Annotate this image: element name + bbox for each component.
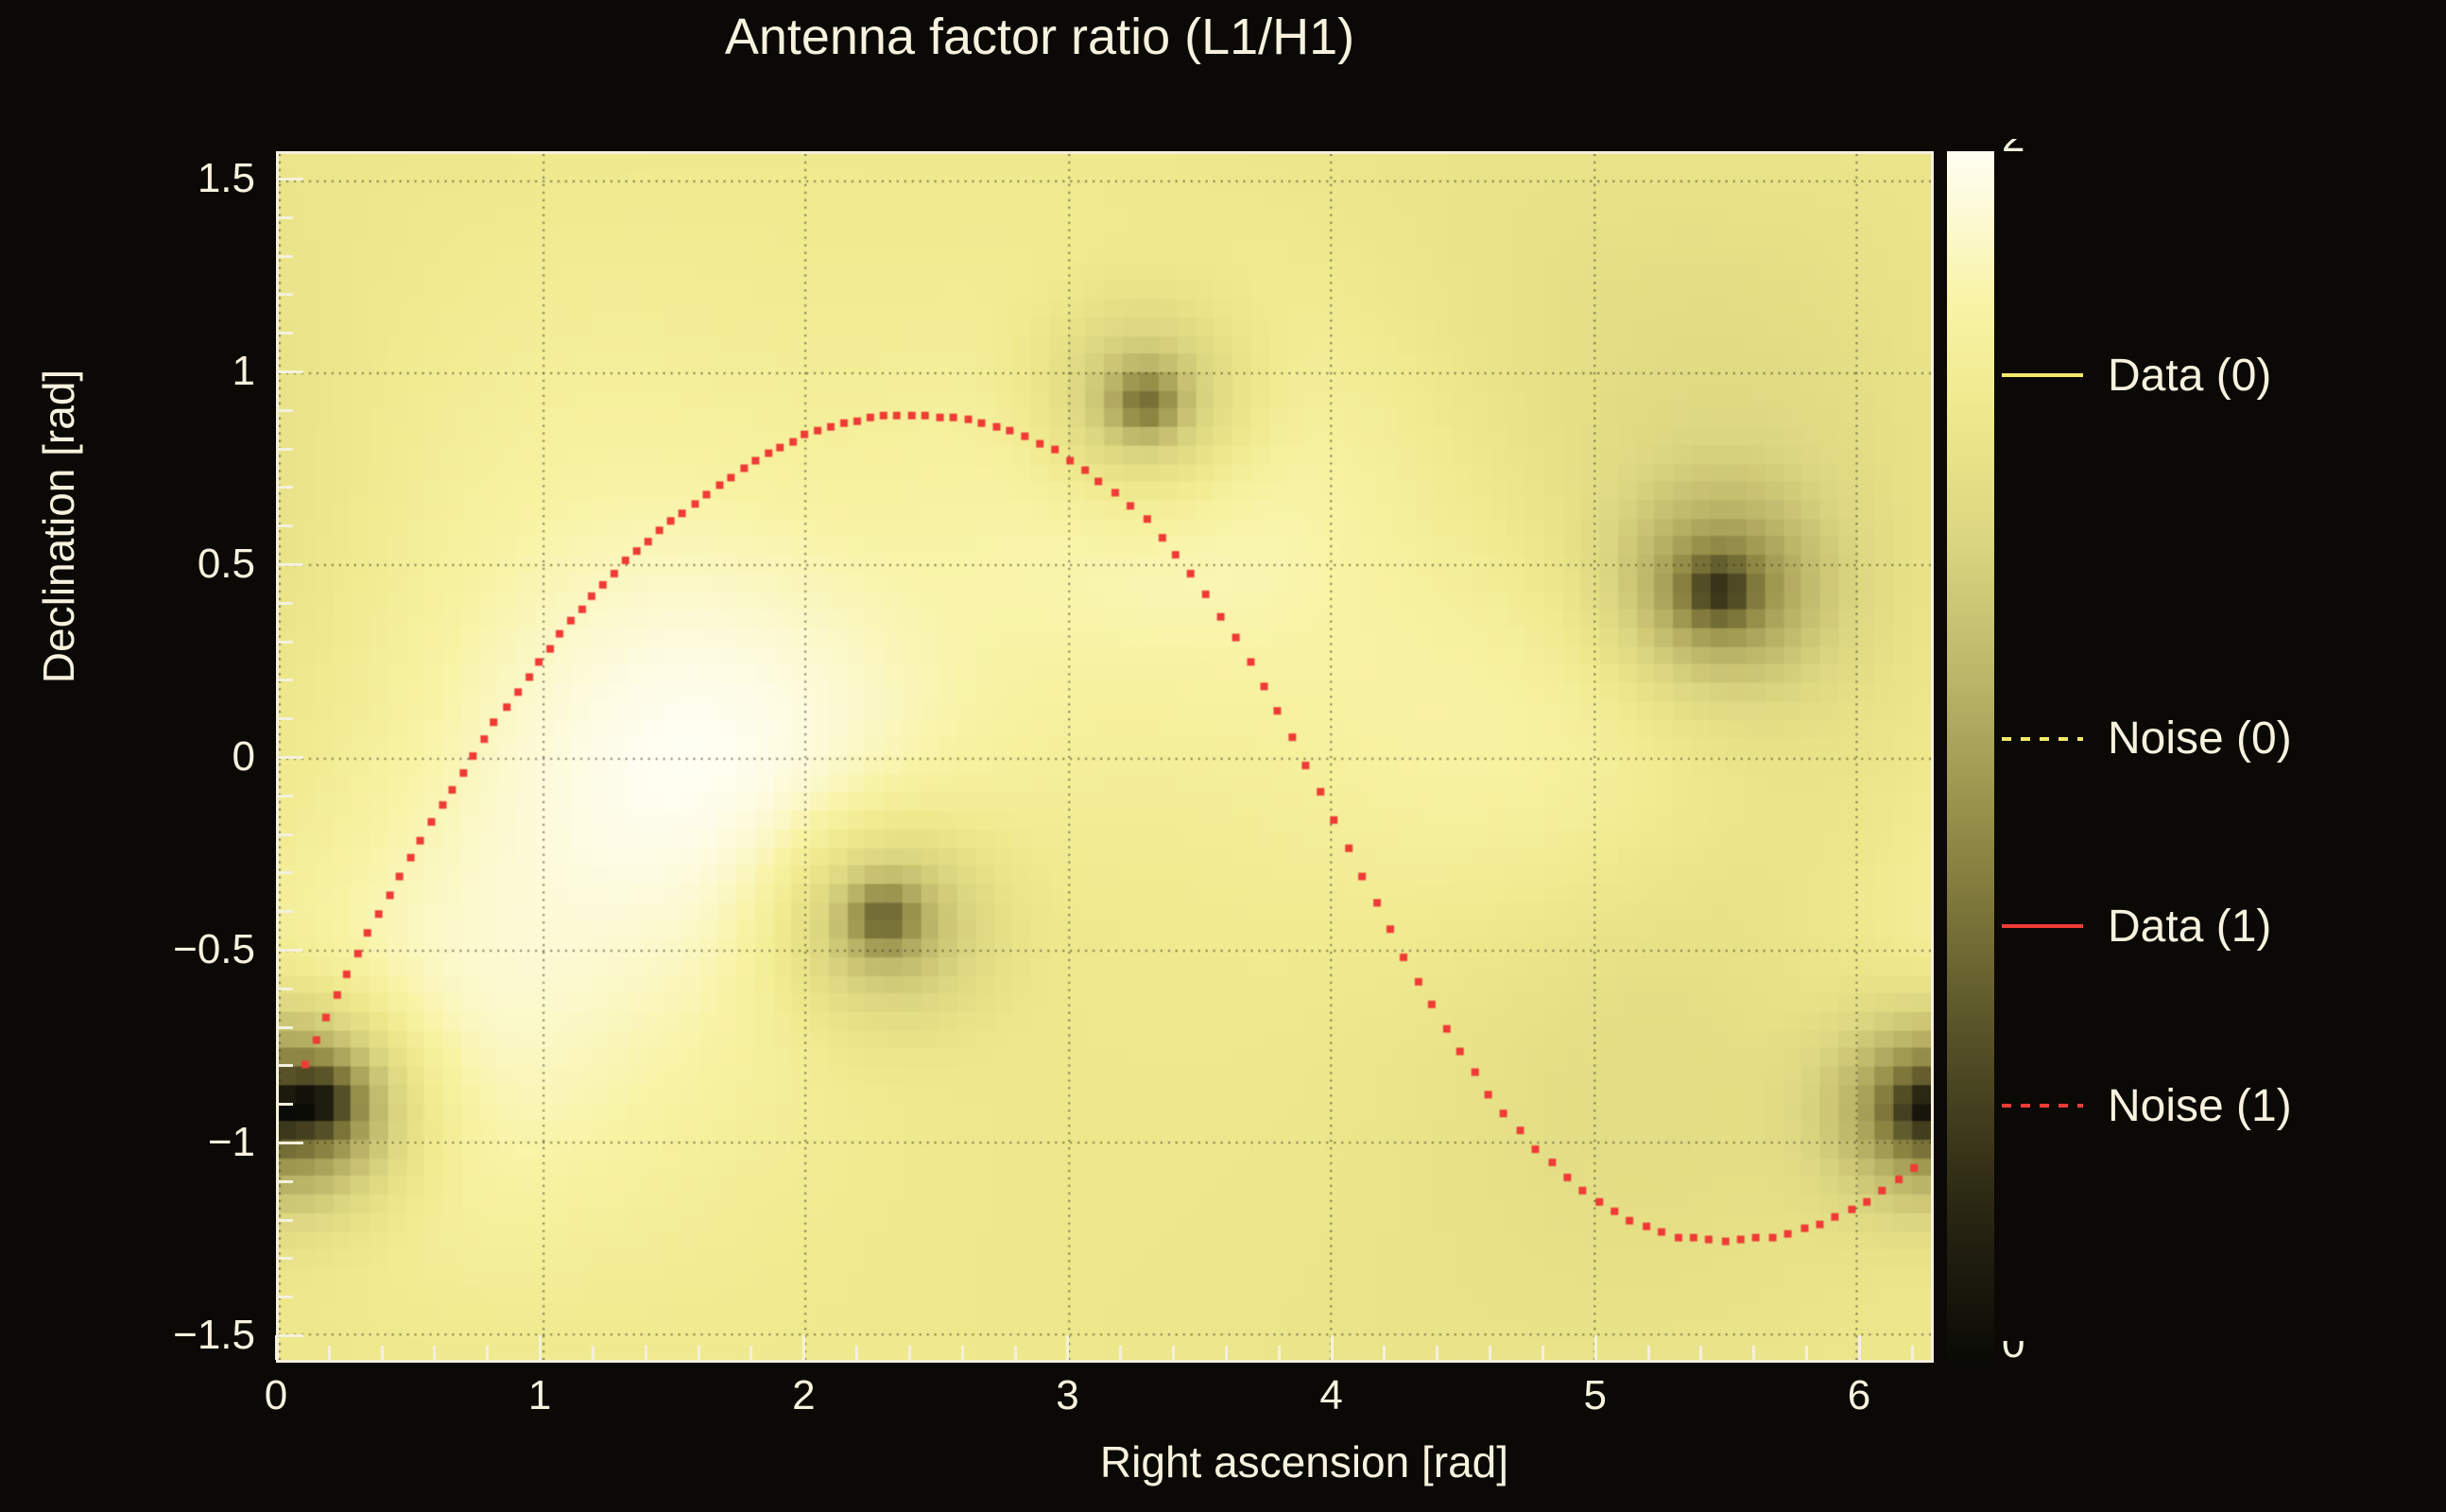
y-axis-tick — [279, 795, 293, 798]
x-axis-tick-labels: 0123456 — [276, 1372, 1934, 1429]
plot-root: Antenna factor ratio (L1/H1) 1.510.50−0.… — [0, 0, 2446, 1512]
x-axis-tick — [698, 1346, 700, 1360]
y-tick-label: −1 — [208, 1119, 255, 1166]
x-axis-tick — [1172, 1346, 1175, 1360]
y-axis-tick — [279, 717, 293, 720]
page-title: Antenna factor ratio (L1/H1) — [0, 8, 2079, 66]
x-axis-tick — [381, 1346, 384, 1360]
y-axis-tick — [279, 524, 293, 527]
x-tick-label: 2 — [792, 1372, 815, 1419]
legend-label: Data (1) — [2108, 901, 2271, 953]
y-axis-tick — [279, 679, 293, 681]
legend-entry[interactable]: Data (0) — [2002, 342, 2437, 408]
x-axis-tick — [1383, 1346, 1386, 1360]
colorbar-gradient — [1947, 151, 1994, 1363]
x-axis-tick — [908, 1346, 911, 1360]
y-axis-tick — [279, 486, 293, 489]
y-axis-tick — [279, 255, 293, 258]
x-axis-tick — [486, 1346, 489, 1360]
y-tick-label: 0.5 — [198, 541, 255, 588]
x-axis-tick — [433, 1346, 436, 1360]
y-axis-tick — [279, 332, 293, 335]
legend-label: Data (0) — [2108, 350, 2271, 402]
x-axis-tick — [328, 1346, 331, 1360]
x-axis-tick — [1858, 1335, 1861, 1360]
y-axis-tick — [279, 833, 293, 836]
y-axis-tick — [279, 1296, 293, 1298]
y-tick-label: 1.5 — [198, 155, 255, 202]
x-axis-tick — [1805, 1346, 1808, 1360]
y-axis-tick — [279, 1334, 303, 1337]
y-axis-tick — [279, 178, 303, 180]
x-tick-label: 0 — [265, 1372, 287, 1419]
y-axis-tick — [279, 910, 293, 913]
x-tick-label: 6 — [1848, 1372, 1870, 1419]
y-axis-tick — [279, 1142, 303, 1144]
x-axis-tick — [1489, 1346, 1491, 1360]
y-tick-label: 1 — [233, 348, 255, 395]
y-axis-tick — [279, 1064, 293, 1067]
y-axis-tick — [279, 756, 303, 759]
y-axis-tick — [279, 409, 293, 412]
y-tick-label: 0 — [233, 733, 255, 781]
y-axis-tick — [279, 293, 293, 296]
x-axis-tick — [1542, 1346, 1544, 1360]
y-axis-tick-labels: 1.510.50−0.5−1−1.5 — [57, 151, 255, 1363]
x-tick-label: 4 — [1319, 1372, 1342, 1419]
heatmap-canvas — [279, 154, 1931, 1360]
heatmap-plot-area[interactable] — [276, 151, 1934, 1363]
x-axis-tick — [961, 1346, 964, 1360]
legend-entry[interactable]: Data (1) — [2002, 893, 2437, 959]
x-axis-tick — [1331, 1335, 1334, 1360]
y-axis-tick — [279, 1103, 293, 1106]
legend-label: Noise (1) — [2108, 1080, 2292, 1132]
colorbar[interactable] — [1947, 151, 1994, 1363]
y-axis-tick — [279, 1180, 293, 1183]
y-axis-tick — [279, 871, 293, 874]
x-axis-tick — [1225, 1346, 1228, 1360]
x-axis-tick — [855, 1346, 858, 1360]
x-axis-tick — [1752, 1346, 1755, 1360]
x-tick-label: 1 — [528, 1372, 551, 1419]
x-axis-tick — [1278, 1346, 1281, 1360]
x-axis-tick — [592, 1346, 594, 1360]
x-axis-tick — [1699, 1346, 1702, 1360]
y-tick-label: −0.5 — [173, 926, 255, 973]
legend-label: Noise (0) — [2108, 713, 2292, 765]
y-axis-tick — [279, 563, 303, 566]
y-axis-tick — [279, 641, 293, 644]
y-axis-tick — [279, 370, 303, 373]
legend-line-icon — [2002, 1104, 2083, 1108]
x-axis-title: Right ascension [rad] — [973, 1436, 1635, 1487]
x-axis-tick — [802, 1335, 805, 1360]
x-axis-tick — [539, 1335, 542, 1360]
x-axis-tick — [275, 1335, 278, 1360]
x-axis-tick — [1014, 1346, 1017, 1360]
y-axis-tick — [279, 448, 293, 451]
x-axis-tick — [645, 1346, 647, 1360]
x-axis-tick — [1647, 1346, 1650, 1360]
y-axis-tick — [279, 949, 303, 952]
legend-line-icon — [2002, 737, 2083, 741]
x-axis-tick — [1066, 1335, 1069, 1360]
y-axis-tick — [279, 216, 293, 219]
y-axis-tick — [279, 602, 293, 605]
x-tick-label: 3 — [1056, 1372, 1078, 1419]
x-axis-tick — [1436, 1346, 1438, 1360]
y-axis-tick — [279, 1257, 293, 1260]
legend-entry[interactable]: Noise (1) — [2002, 1073, 2437, 1139]
y-tick-label: −1.5 — [173, 1312, 255, 1359]
y-axis-tick — [279, 1219, 293, 1222]
x-tick-label: 5 — [1584, 1372, 1607, 1419]
y-axis-tick — [279, 988, 293, 990]
y-axis-title: Declination [rad] — [33, 281, 84, 772]
x-axis-tick — [1119, 1346, 1122, 1360]
x-axis-tick — [1911, 1346, 1914, 1360]
x-axis-tick — [1594, 1335, 1597, 1360]
x-axis-tick — [749, 1346, 752, 1360]
y-axis-tick — [279, 1026, 293, 1029]
legend-entry[interactable]: Noise (0) — [2002, 706, 2437, 772]
legend-line-icon — [2002, 924, 2083, 928]
legend: Data (0)Noise (0)Data (1)Noise (1) — [2002, 151, 2437, 1363]
legend-line-icon — [2002, 373, 2083, 377]
